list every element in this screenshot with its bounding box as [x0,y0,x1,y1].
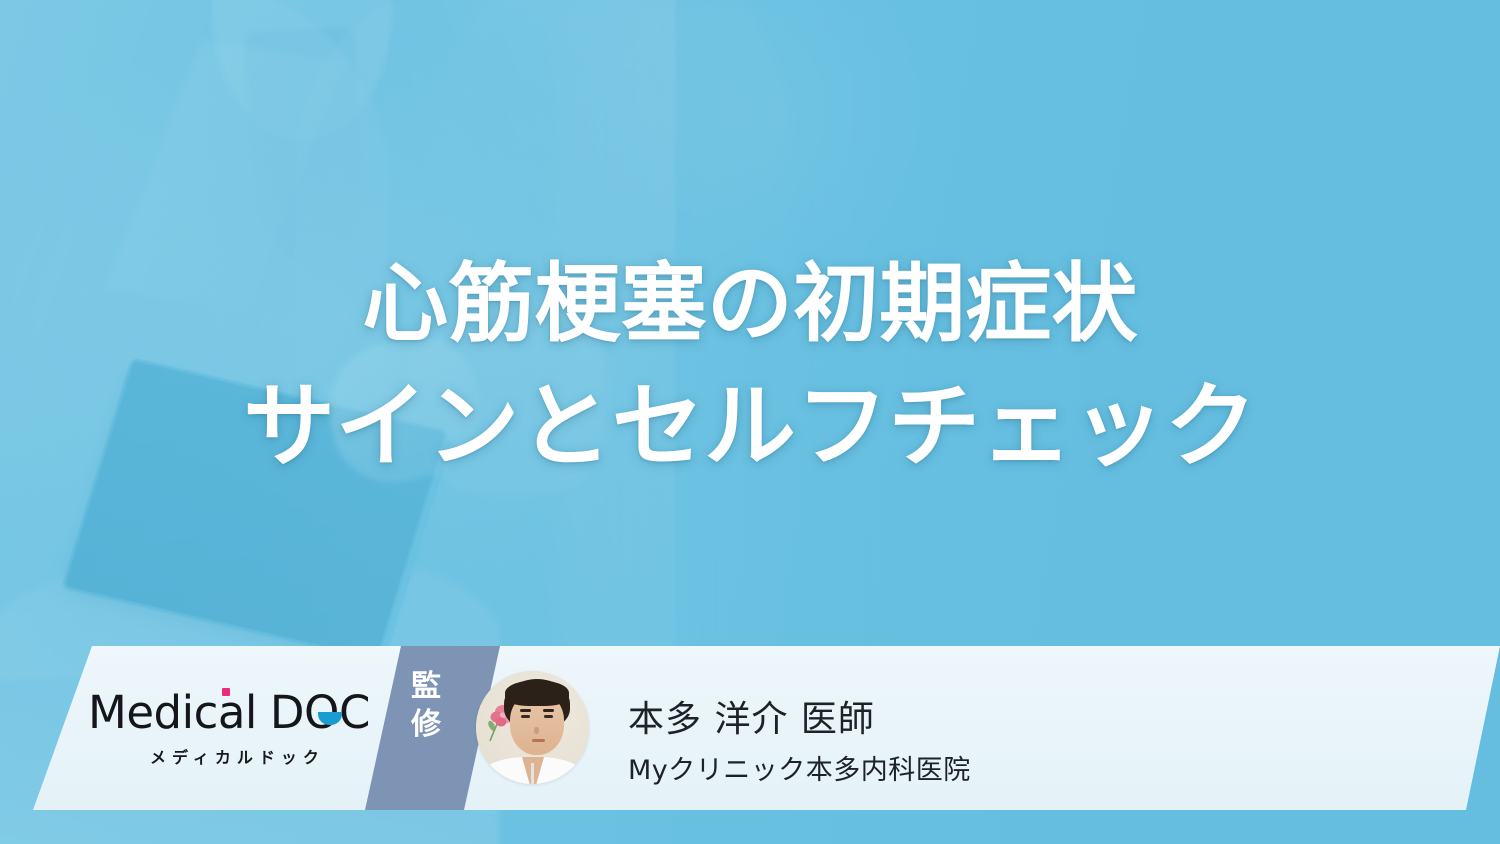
headline: 心筋梗塞の初期症状 サインとセルフチェック [0,254,1500,482]
avatar-eye-left [521,715,530,718]
supervise-label: 監修 [398,668,454,745]
doctor-clinic: Myクリニック本多内科医院 [628,748,971,787]
avatar-coat-line [531,763,534,784]
doctor-avatar [476,671,589,784]
avatar-fringe [505,680,569,706]
headline-line-1: 心筋梗塞の初期症状 [0,254,1500,355]
logo-i-dot-icon [222,688,230,696]
banner-stage: 心筋梗塞の初期症状 サインとセルフチェック MedicalDOC メディカルドッ… [0,0,1500,844]
logo-kana-subtitle: メディカルドック [150,744,378,768]
avatar-mouth [532,739,545,742]
avatar-nose [534,727,539,734]
headline-line-2: サインとセルフチェック [0,373,1500,482]
logo-wordmark-medical: Medical [88,686,257,739]
avatar-brow-right [543,709,554,712]
avatar-eye-right [544,715,553,718]
doctor-name: 本多 洋介 医師 [628,690,875,742]
medical-doc-logo[interactable]: MedicalDOC メディカルドック [88,690,378,770]
avatar-brow-left [520,709,531,712]
logo-wordmark: MedicalDOC [88,690,378,735]
